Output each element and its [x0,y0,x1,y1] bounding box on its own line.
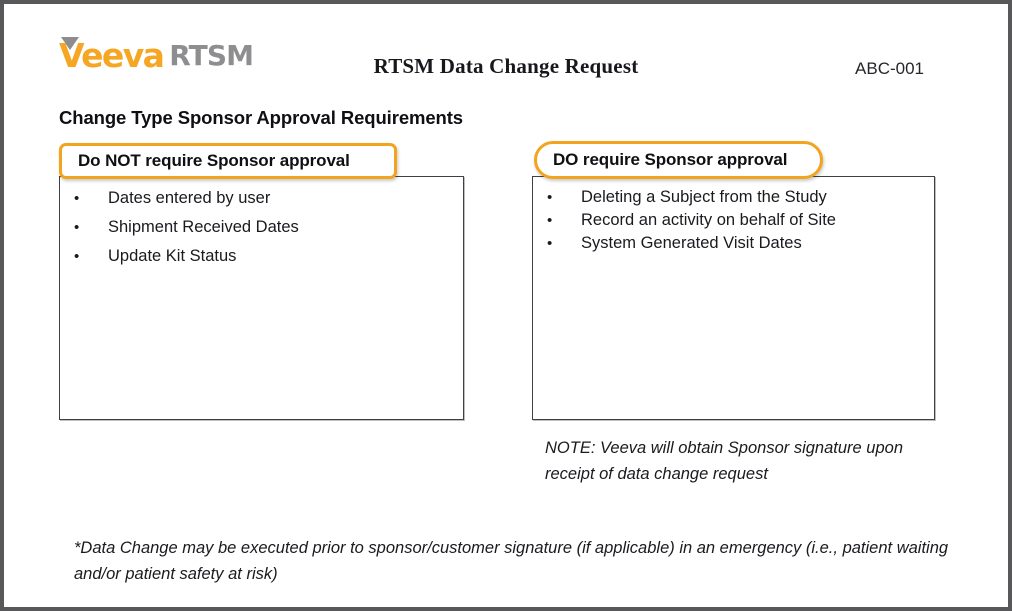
sponsor-signature-note: NOTE: Veeva will obtain Sponsor signatur… [545,436,945,487]
list-item-label: System Generated Visit Dates [581,234,802,253]
list-item: • System Generated Visit Dates [547,234,836,253]
bullet-icon: • [547,213,581,228]
section-heading: Change Type Sponsor Approval Requirement… [59,107,463,129]
document-id: ABC-001 [855,59,924,79]
list-do-not-require-approval: • Dates entered by user • Shipment Recei… [74,189,299,276]
triangle-mark-icon [61,37,79,50]
callout-label-left: Do NOT require Sponsor approval [62,151,350,171]
footnote: *Data Change may be executed prior to sp… [74,535,962,588]
bullet-icon: • [74,249,108,264]
list-item-label: Dates entered by user [108,189,270,208]
list-item: • Dates entered by user [74,189,299,208]
list-do-require-approval: • Deleting a Subject from the Study • Re… [547,188,836,257]
list-item: • Shipment Received Dates [74,218,299,237]
list-item: • Record an activity on behalf of Site [547,211,836,230]
list-item-label: Update Kit Status [108,247,236,266]
bullet-icon: • [74,220,108,235]
list-item: • Deleting a Subject from the Study [547,188,836,207]
bullet-icon: • [547,190,581,205]
callout-do-not-require-approval: Do NOT require Sponsor approval [59,143,397,179]
list-item-label: Shipment Received Dates [108,218,299,237]
list-item-label: Record an activity on behalf of Site [581,211,836,230]
list-item: • Update Kit Status [74,247,299,266]
callout-label-right: DO require Sponsor approval [537,150,787,170]
bullet-icon: • [74,191,108,206]
callout-do-require-approval: DO require Sponsor approval [534,141,823,179]
slide-page: Veeva RTSM RTSM Data Change Request ABC-… [0,0,1012,611]
bullet-icon: • [547,236,581,251]
list-item-label: Deleting a Subject from the Study [581,188,827,207]
